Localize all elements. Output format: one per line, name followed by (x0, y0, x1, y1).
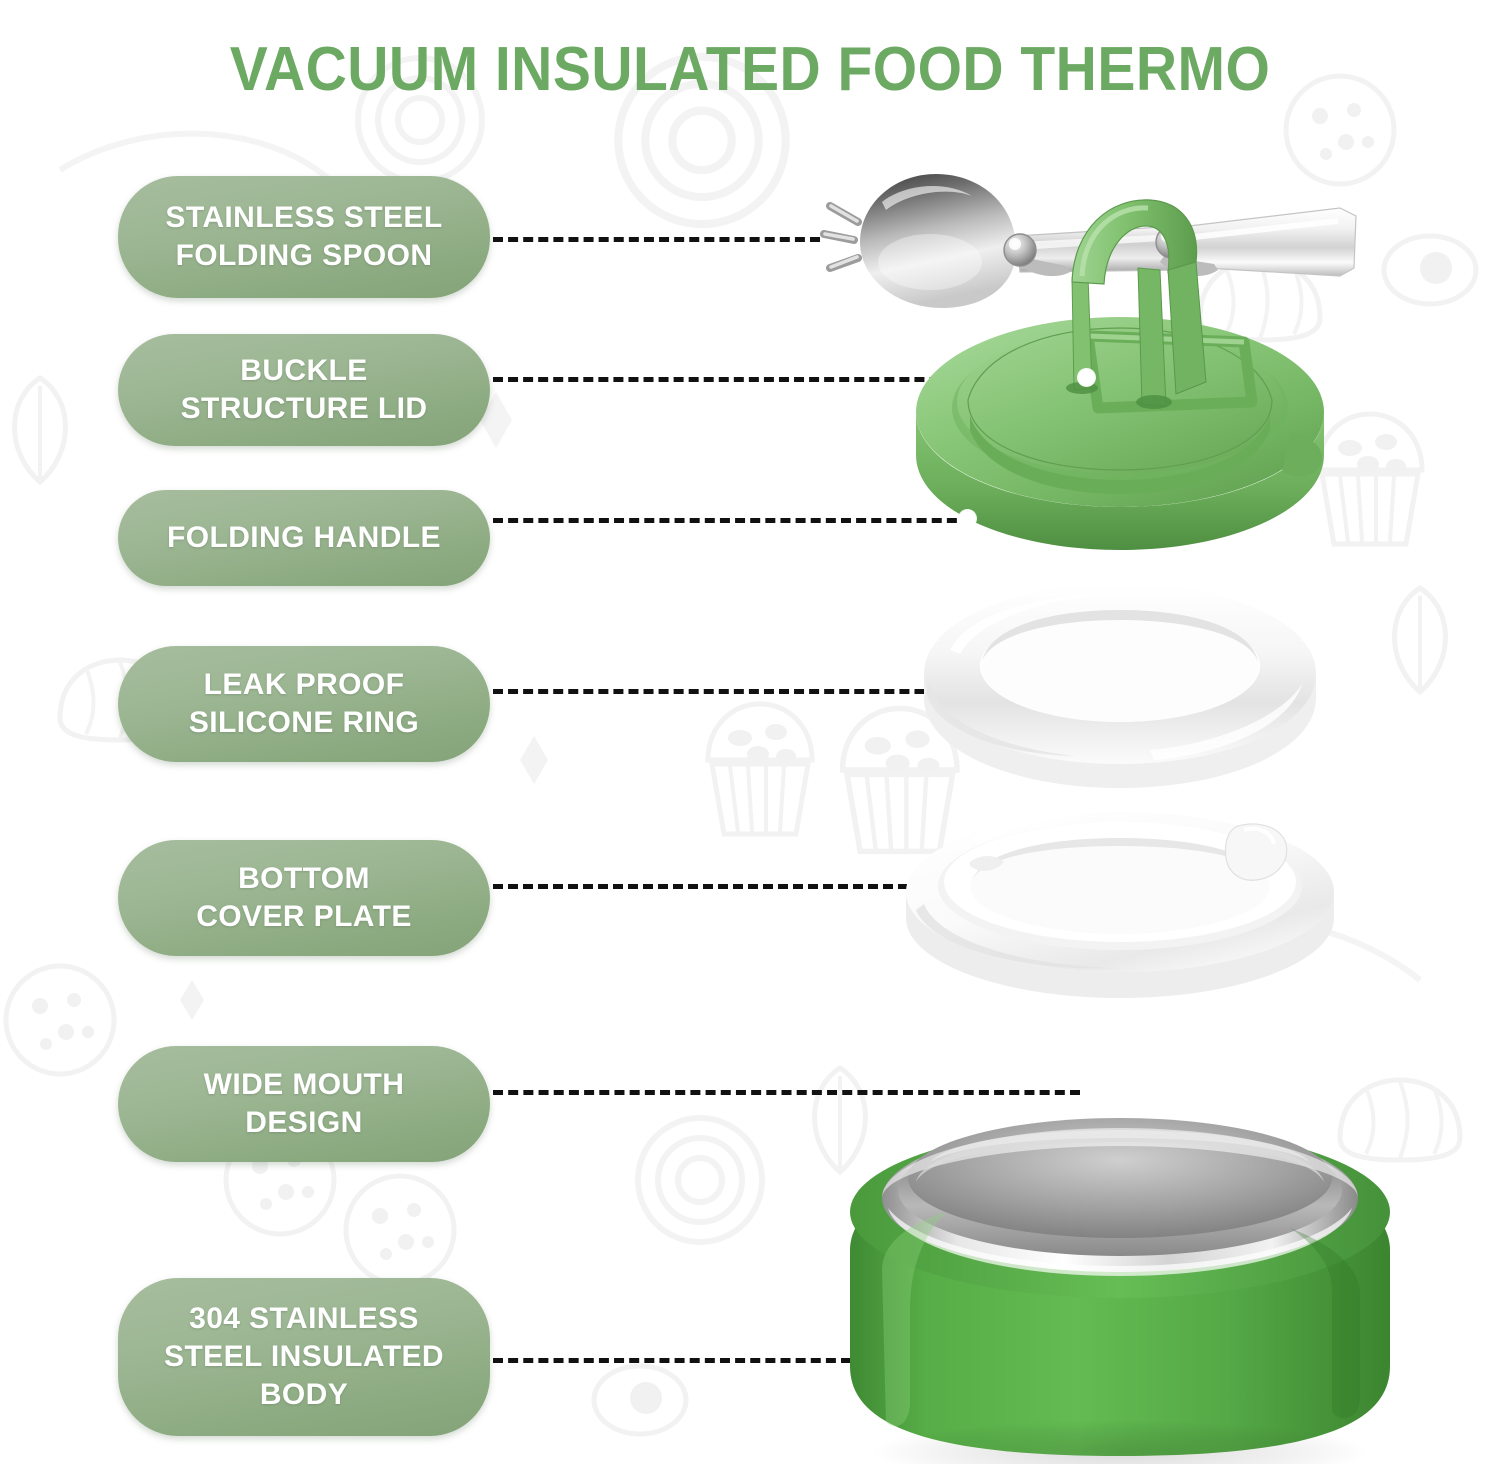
callout-pill-folding-handle[interactable]: FOLDING HANDLE (118, 490, 490, 586)
callout-pill-stainless-steel-folding-spoon[interactable]: STAINLESS STEEL FOLDING SPOON (118, 176, 490, 298)
insulated-body-art (850, 1118, 1390, 1464)
callout-label: FOLDING HANDLE (167, 519, 441, 557)
callout-pill-buckle-structure-lid[interactable]: BUCKLE STRUCTURE LID (118, 334, 490, 446)
callout-pill-304-stainless-steel-insulated-body[interactable]: 304 STAINLESS STEEL INSULATED BODY (118, 1278, 490, 1436)
callout-pill-leak-proof-silicone-ring[interactable]: LEAK PROOF SILICONE RING (118, 646, 490, 762)
page-title: VACUUM INSULATED FOOD THERMO (60, 34, 1440, 106)
product-exploded-view (820, 150, 1480, 1464)
callout-label: BUCKLE STRUCTURE LID (181, 352, 428, 428)
bottom-cover-plate-art (906, 810, 1334, 998)
callout-label: 304 STAINLESS STEEL INSULATED BODY (164, 1300, 444, 1414)
callout-label: BOTTOM COVER PLATE (196, 860, 412, 936)
leader-line-spoon (493, 237, 820, 242)
callout-pill-bottom-cover-plate[interactable]: BOTTOM COVER PLATE (118, 840, 490, 956)
callout-label: LEAK PROOF SILICONE RING (189, 666, 419, 742)
callout-label: WIDE MOUTH DESIGN (204, 1066, 405, 1142)
leader-endpoint-dot-lid (1078, 369, 1095, 386)
silicone-ring-art (924, 584, 1316, 788)
infographic-page: VACUUM INSULATED FOOD THERMO STAINLESS S… (0, 0, 1500, 1464)
leader-endpoint-dot-handle (959, 510, 976, 527)
callout-label: STAINLESS STEEL FOLDING SPOON (165, 199, 442, 275)
callout-pill-wide-mouth-design[interactable]: WIDE MOUTH DESIGN (118, 1046, 490, 1162)
